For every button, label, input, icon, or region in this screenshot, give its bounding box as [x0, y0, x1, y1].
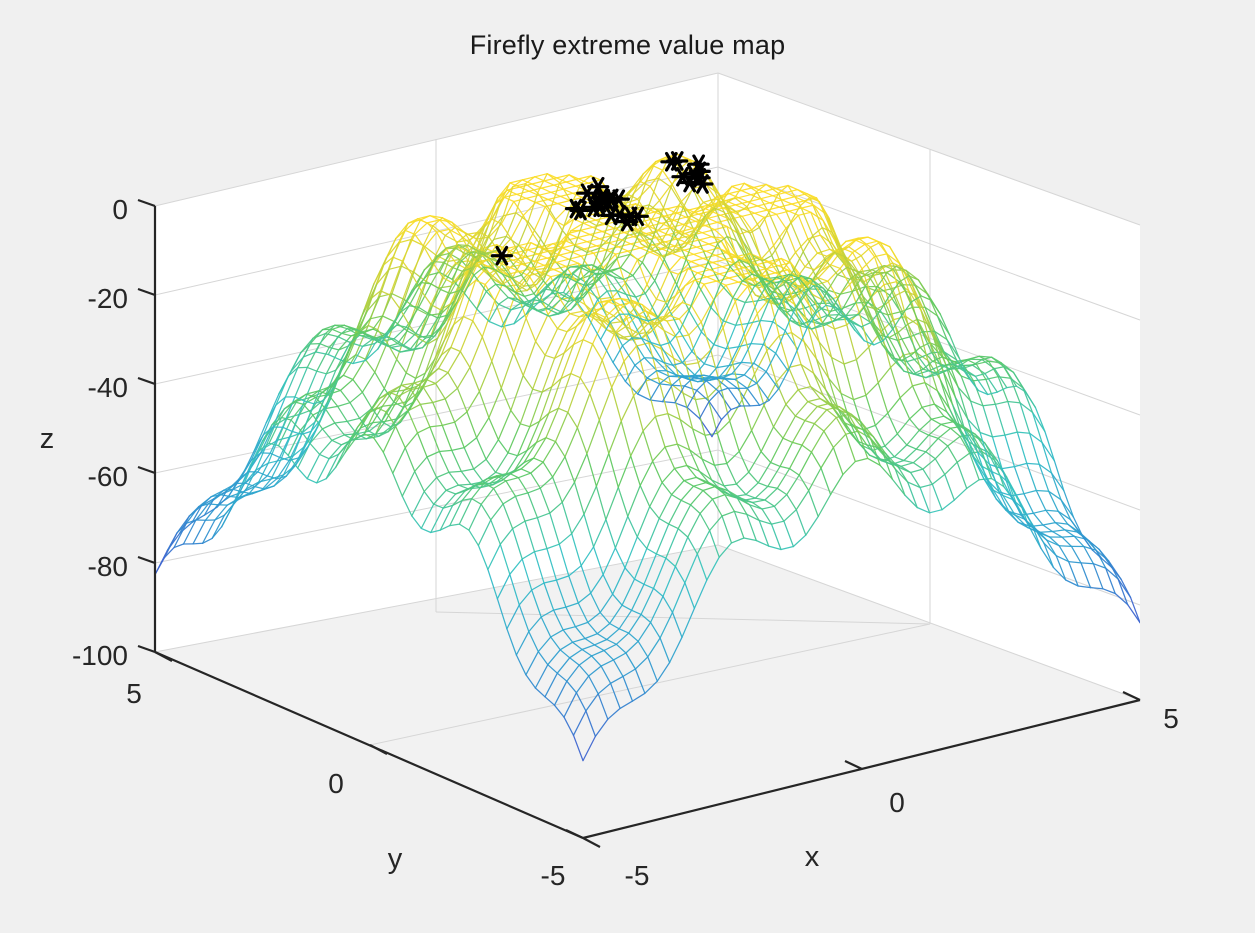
ztick-60 — [138, 467, 155, 473]
mesh-line — [751, 344, 763, 345]
ytick-label-0: 0 — [328, 768, 344, 799]
ztick-label-80: -80 — [88, 551, 128, 582]
ztick-20 — [138, 289, 155, 295]
mesh-line — [459, 245, 469, 246]
mesh-line — [1062, 536, 1074, 537]
mesh-line — [193, 543, 203, 544]
ytick-label-m5: -5 — [541, 860, 566, 891]
y-axis-label: y — [388, 843, 403, 875]
ytick-m5 — [583, 838, 600, 847]
ztick-label-20: -20 — [88, 283, 128, 314]
surface-plot-axes: 0 -20 -40 -60 -80 -100 5 0 -5 -5 0 5 z y… — [0, 0, 1255, 933]
xtick-label-m5: -5 — [625, 860, 650, 891]
mesh-line — [1081, 563, 1093, 564]
mesh-line — [458, 484, 470, 485]
ztick-100 — [138, 646, 155, 652]
ztick-label-0: 0 — [112, 194, 128, 225]
xtick-label-0: 0 — [889, 787, 905, 818]
x-axis-label: x — [805, 841, 820, 873]
mesh-line — [750, 405, 760, 406]
mesh-line — [1059, 546, 1071, 547]
mesh-line — [1040, 532, 1052, 533]
mesh-line — [347, 329, 357, 330]
ztick-0 — [138, 200, 155, 206]
mesh-line — [1036, 491, 1048, 492]
ytick-label-5: 5 — [126, 678, 142, 709]
z-axis-label: z — [40, 423, 55, 455]
ztick-label-60: -60 — [88, 461, 128, 492]
matlab-figure-window: Firefly extreme value map — [0, 0, 1255, 933]
xtick-label-5: 5 — [1163, 703, 1179, 734]
ztick-label-100: -100 — [72, 640, 128, 671]
ztick-80 — [138, 557, 155, 563]
ztick-40 — [138, 378, 155, 384]
mesh-line — [672, 385, 684, 386]
ztick-label-40: -40 — [88, 372, 128, 403]
mesh-line — [471, 252, 481, 253]
mesh-line — [434, 262, 444, 263]
